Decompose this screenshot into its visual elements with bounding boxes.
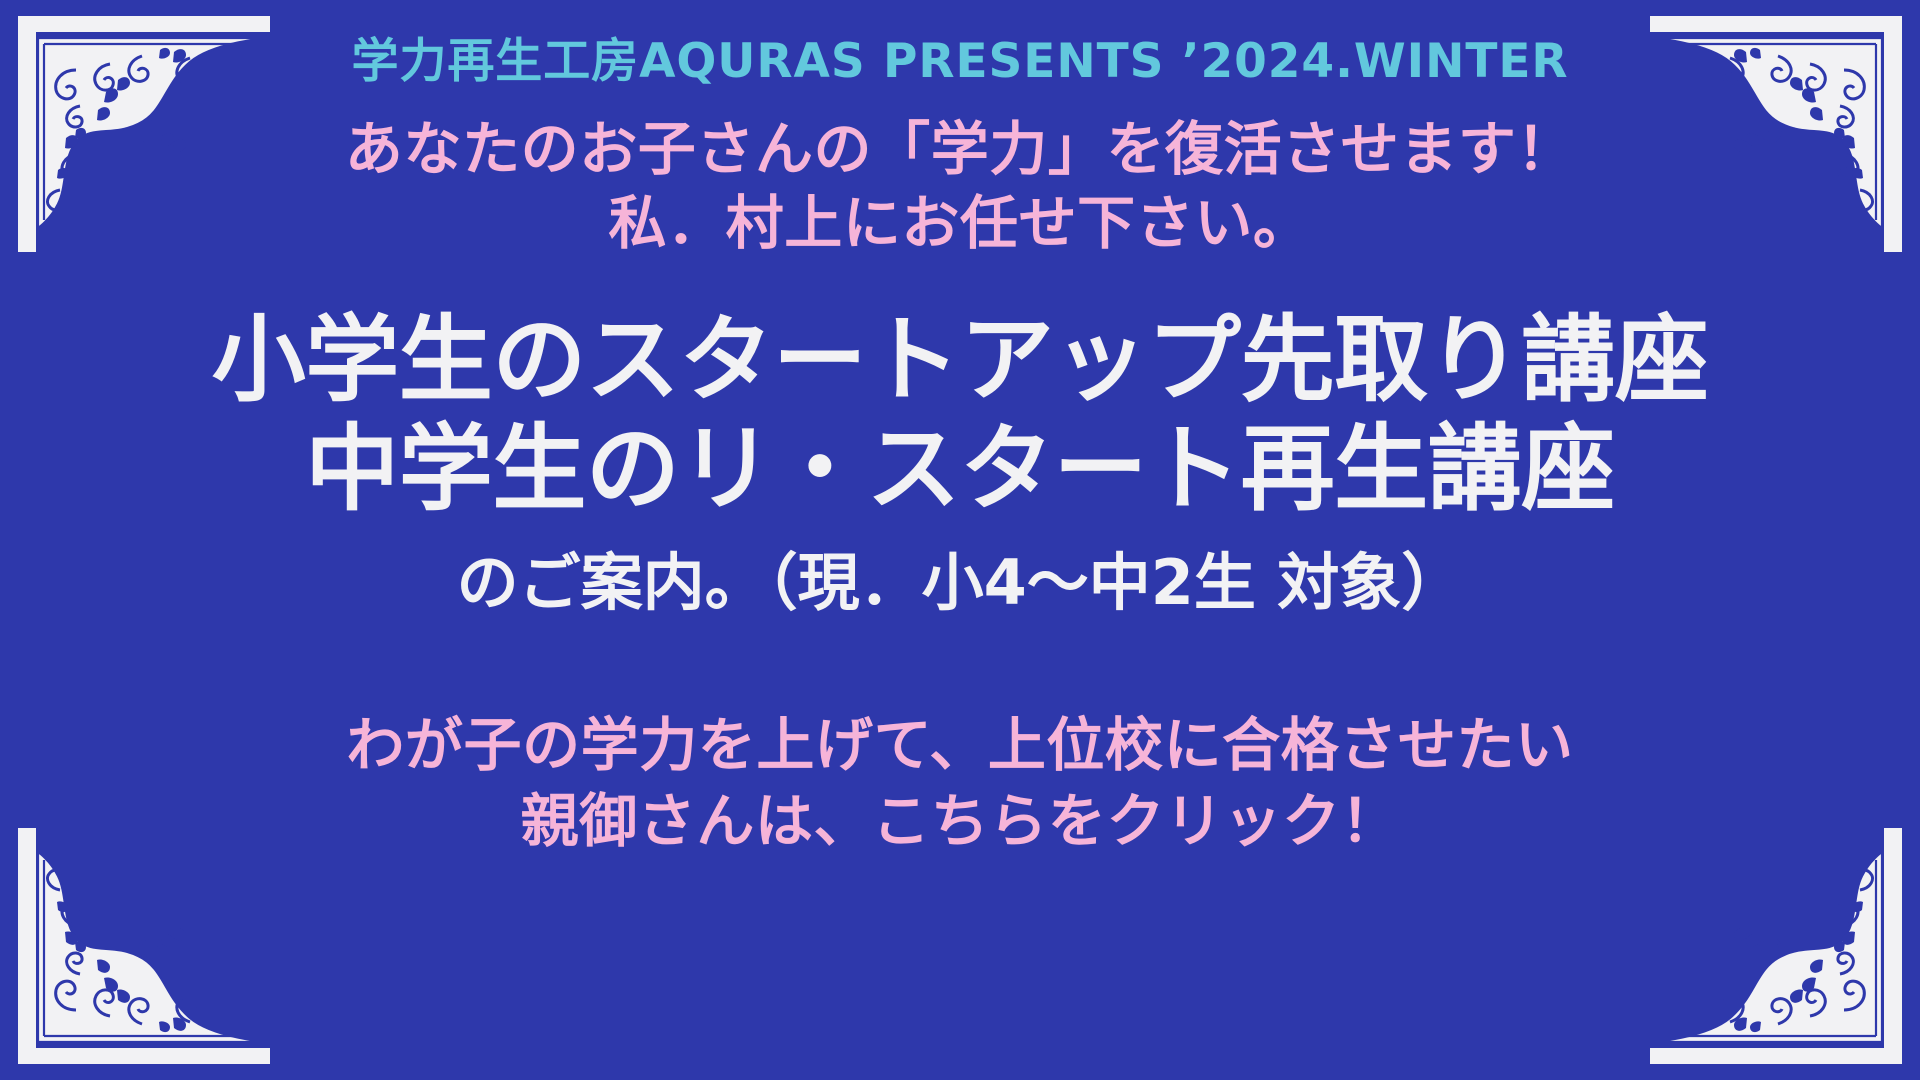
presenter-eyebrow-text: 学力再生工房AQURAS PRESENTS ’2024.WINTER xyxy=(351,36,1568,88)
course-target-subline: のご案内。（現．小4〜中2生 対象） xyxy=(457,546,1464,620)
course-headline: 小学生のスタートアップ先取り講座 中学生のリ・スタート再生講座 xyxy=(212,306,1708,524)
call-to-action-message[interactable]: わが子の学力を上げて、上位校に合格させたい 親御さんは、こちらをクリック！ xyxy=(346,707,1573,860)
lead-line-2: 私．村上にお任せ下さい。 xyxy=(345,186,1575,260)
headline-line-2: 中学生のリ・スタート再生講座 xyxy=(212,415,1708,524)
poster-content: 学力再生工房AQURAS PRESENTS ’2024.WINTER あなたのお… xyxy=(0,0,1920,1080)
promo-poster: 学力再生工房AQURAS PRESENTS ’2024.WINTER あなたのお… xyxy=(0,0,1920,1080)
lead-message: あなたのお子さんの「学力」を復活させます！ 私．村上にお任せ下さい。 xyxy=(345,112,1575,260)
headline-line-1: 小学生のスタートアップ先取り講座 xyxy=(212,306,1708,415)
lead-line-1: あなたのお子さんの「学力」を復活させます！ xyxy=(345,112,1575,186)
cta-line-1: わが子の学力を上げて、上位校に合格させたい xyxy=(346,707,1573,784)
cta-line-2: 親御さんは、こちらをクリック！ xyxy=(346,783,1573,860)
